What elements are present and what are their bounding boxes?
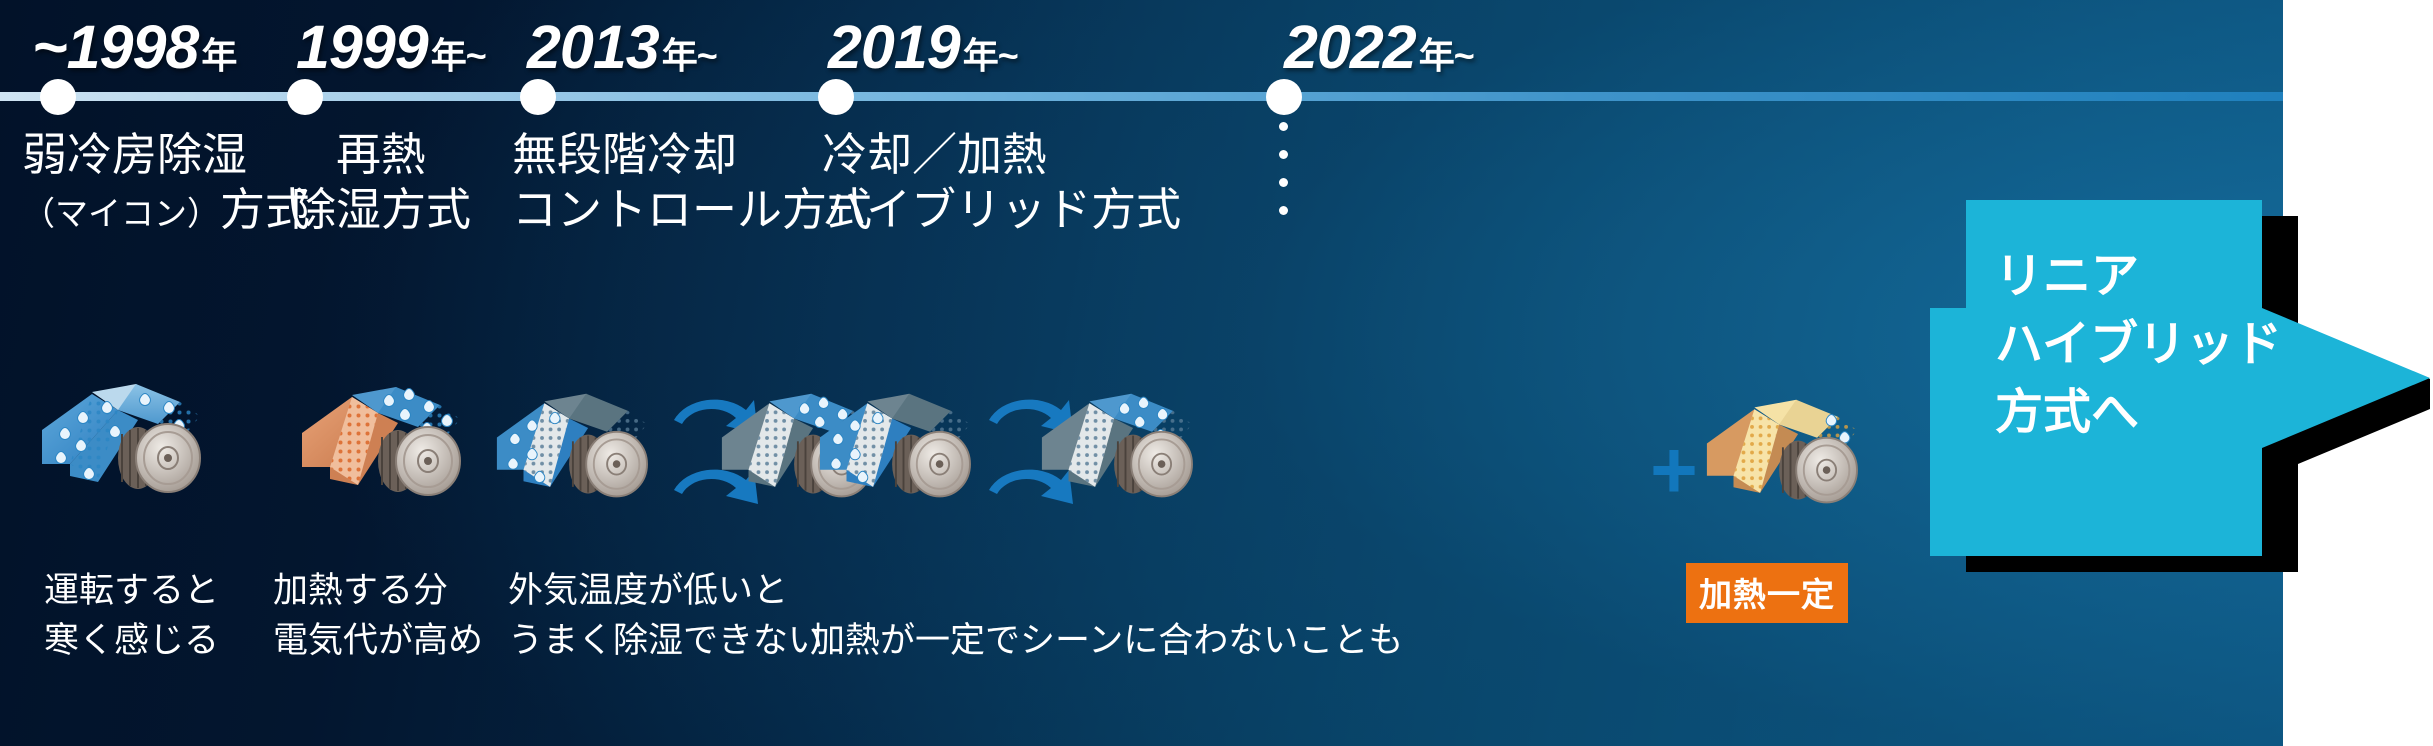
year-suffix: 年: [201, 35, 236, 76]
dotted-connector-dot: [1279, 150, 1288, 159]
year-number: 1999: [296, 13, 428, 81]
caption-line: 運転すると: [44, 566, 219, 616]
year-suffix: 年~: [963, 35, 1018, 76]
year-label-2019: 2019年~: [828, 17, 1018, 78]
unit-svg: [495, 382, 685, 512]
year-number: 2019: [828, 13, 960, 81]
timeline-dot-1998: [40, 79, 76, 115]
method-title-line: 冷却／加熱: [822, 128, 1181, 183]
unit-svg: [40, 372, 240, 508]
unit-svg: [1040, 382, 1230, 512]
unit-svg: [300, 375, 500, 511]
caption-column-3: 外気温度が低いと うまく除湿できない: [508, 566, 823, 665]
year-suffix: 年~: [431, 35, 486, 76]
dotted-connector-dot: [1279, 206, 1288, 215]
caption-column-4: 加熱が一定でシーンに合わないことも: [810, 616, 1403, 666]
timeline-dotted-connector: [1279, 122, 1288, 215]
year-number: 2013: [527, 13, 659, 81]
year-label-1999: 1999年~: [296, 17, 486, 78]
caption-line: 外気温度が低いと: [508, 566, 823, 616]
caption-column-1: 運転すると 寒く感じる: [44, 566, 219, 665]
year-label-1998: ~1998年: [32, 17, 236, 78]
year-number: ~1998: [32, 13, 198, 81]
caption-column-2: 加熱する分 電気代が高め: [273, 566, 483, 665]
method-title-3: 無段階冷却 コントロール方式: [512, 128, 872, 238]
method-title-line: コントロール方式: [512, 183, 872, 238]
method-title-line: ハイブリッド方式: [822, 183, 1181, 238]
method-title-1: 弱冷房除湿 （マイコン）方式: [22, 128, 310, 238]
caption-line: うまく除湿できない: [508, 616, 823, 666]
timeline-dot-2022: [1266, 79, 1302, 115]
arrow-label-line: リニア: [1995, 243, 2282, 311]
caption-line: 加熱する分: [273, 566, 483, 616]
method-title-line: （マイコン）方式: [22, 183, 310, 238]
caption-line: 寒く感じる: [44, 616, 219, 666]
dotted-connector-dot: [1279, 122, 1288, 131]
year-suffix: 年~: [1419, 35, 1474, 76]
infographic-root: ~1998年 1999年~ 2013年~ 2019年~ 2022年~ 弱冷房除湿…: [0, 0, 2433, 746]
year-suffix: 年~: [662, 35, 717, 76]
timeline-dot-2013: [520, 79, 556, 115]
method-title-2: 再熱 除湿方式: [291, 128, 471, 238]
caption-line: 電気代が高め: [273, 616, 483, 666]
year-label-2022: 2022年~: [1284, 17, 1474, 78]
caption-line: 加熱が一定でシーンに合わないことも: [810, 616, 1403, 666]
heat-exchanger-unit-blue-c1: [40, 372, 240, 513]
heat-exchanger-unit-blue-c3-left: [495, 382, 685, 517]
timeline-dot-1999: [287, 79, 323, 115]
method-title-line: 無段階冷却: [512, 128, 872, 183]
arrow-label-line: 方式へ: [1995, 379, 2282, 447]
method-title-line: 除湿方式: [291, 183, 471, 238]
year-label-2013: 2013年~: [527, 17, 717, 78]
heater-unit-orange-c4: [1705, 388, 1895, 523]
status-badge-heating-constant: 加熱一定: [1686, 563, 1848, 623]
method-title-paren: （マイコン）: [22, 197, 220, 233]
method-title-line: 再熱: [291, 128, 471, 183]
timeline-dot-2019: [818, 79, 854, 115]
plus-icon: +: [1650, 430, 1698, 512]
method-title-4: 冷却／加熱 ハイブリッド方式: [822, 128, 1181, 238]
arrow-label-line: ハイブリッド: [1995, 311, 2282, 379]
method-title-line: 弱冷房除湿: [22, 128, 310, 183]
timeline-rail: [0, 92, 2283, 101]
year-number: 2022: [1284, 13, 1416, 81]
dotted-connector-dot: [1279, 178, 1288, 187]
unit-svg: [1705, 388, 1895, 518]
result-arrow-label: リニア ハイブリッド 方式へ: [1995, 243, 2282, 447]
heat-exchanger-unit-blue-c4-right: [1040, 382, 1230, 517]
heat-exchanger-unit-reheat-c2: [300, 375, 500, 516]
